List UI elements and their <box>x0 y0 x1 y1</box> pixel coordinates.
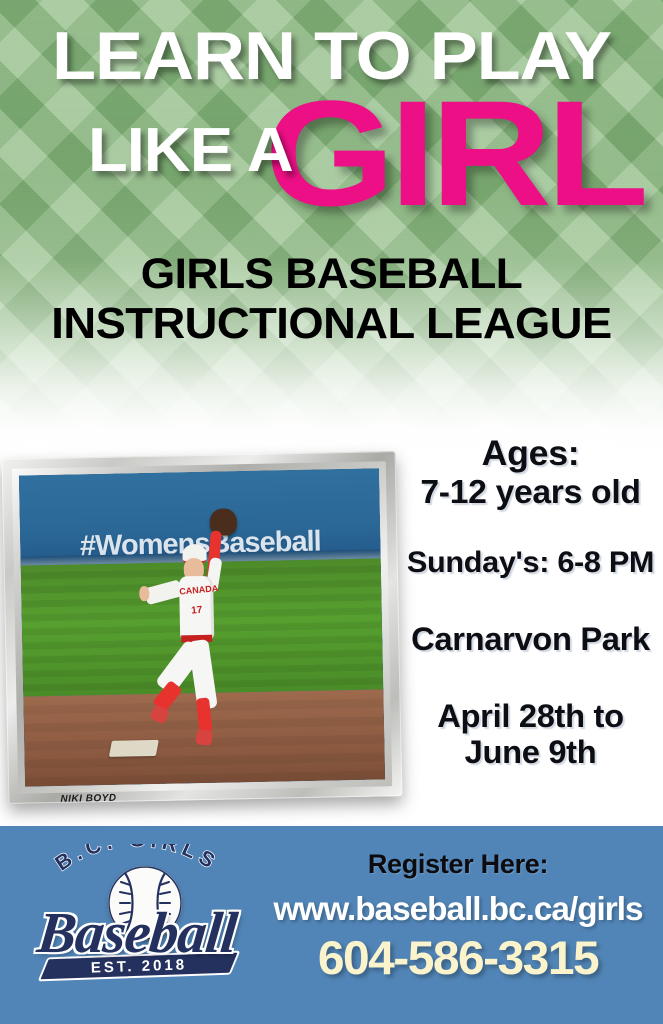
poster: GIRL LEARN TO PLAY LIKE A GIRLS BASEBALL… <box>0 0 663 1024</box>
event-details: Ages: 7-12 years old Sunday's: 6-8 PM Ca… <box>403 436 658 769</box>
headline-line-2: LIKE A <box>88 120 293 182</box>
subheading-line-2: INSTRUCTIONAL LEAGUE <box>0 299 663 349</box>
detail-ages: Ages: 7-12 years old <box>400 436 660 508</box>
photo-frame: #WomensBaseball CANADA 17 <box>2 451 403 804</box>
subheading-line-1: GIRLS BASEBALL <box>141 250 523 298</box>
detail-dates-line-1: April 28th to <box>437 698 623 734</box>
detail-dates: April 28th to June 9th <box>400 700 660 769</box>
detail-dates-line-2: June 9th <box>400 736 660 769</box>
bc-girls-baseball-logo: B.C. GIRLS <box>24 842 250 992</box>
register-url[interactable]: www.baseball.bc.ca/girls <box>256 890 660 928</box>
register-label: Register Here: <box>258 848 658 880</box>
player-shoe-right <box>196 729 214 746</box>
registration-info: Register Here: www.baseball.bc.ca/girls … <box>258 848 658 984</box>
detail-ages-value: 7-12 years old <box>400 475 660 509</box>
detail-ages-label: Ages: <box>482 434 580 473</box>
photo-image: #WomensBaseball CANADA 17 <box>19 468 385 786</box>
detail-schedule: Sunday's: 6-8 PM <box>400 548 660 579</box>
footer-bar: B.C. GIRLS <box>0 826 663 1024</box>
headline-line-1: LEARN TO PLAY <box>0 22 663 90</box>
detail-location: Carnarvon Park <box>400 623 660 656</box>
headline-accent-word: GIRL <box>264 78 643 228</box>
photo-credit: NIKI BOYD <box>60 793 116 805</box>
headline: GIRL LEARN TO PLAY LIKE A <box>0 0 663 250</box>
register-phone[interactable]: 604-586-3315 <box>254 932 662 984</box>
player-figure: CANADA 17 <box>164 508 270 756</box>
base-bag <box>109 740 159 757</box>
subheading: GIRLS BASEBALL INSTRUCTIONAL LEAGUE <box>0 249 663 349</box>
player-hand-extended <box>139 587 149 602</box>
